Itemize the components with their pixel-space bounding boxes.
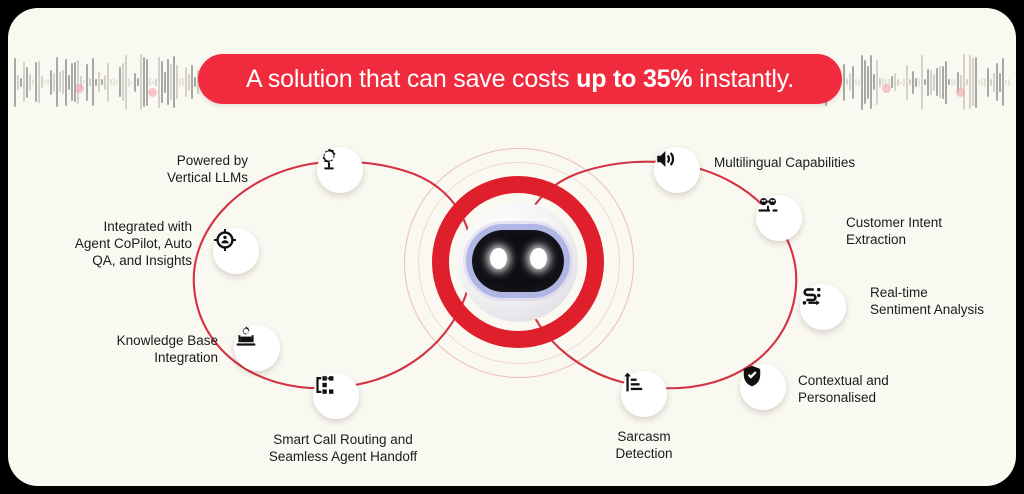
- waveform-bar: [933, 74, 935, 91]
- waveform-bar: [35, 62, 37, 102]
- waveform-bar: [53, 73, 55, 92]
- waveform-bar: [990, 79, 992, 86]
- waveform-bar: [981, 78, 983, 86]
- waveform-bar: [56, 57, 58, 107]
- waveform-bar: [50, 70, 52, 95]
- waveform-bar: [864, 60, 866, 104]
- waveform-bar: [969, 55, 971, 109]
- waveform-bar: [915, 78, 917, 87]
- waveform-bar: [101, 79, 103, 85]
- waveform-bar: [152, 81, 154, 84]
- node-multilingual-capabilities[interactable]: [654, 147, 700, 193]
- waveform-bar: [161, 61, 163, 103]
- waveform-bar: [47, 79, 49, 85]
- waveform-bar: [909, 79, 911, 85]
- node-sarcasm-detection[interactable]: [621, 371, 667, 417]
- label-multilingual-capabilities: Multilingual Capabilities: [714, 154, 964, 171]
- waveform-bar: [140, 54, 142, 110]
- waveform-bar: [98, 72, 100, 92]
- waveform-bar: [74, 62, 76, 102]
- waveform-bar: [191, 65, 193, 99]
- label-real-time-sentiment-analysis: Real-time Sentiment Analysis: [870, 284, 1016, 318]
- waveform-bar: [149, 78, 151, 86]
- node-contextual-and-personalised[interactable]: [740, 364, 786, 410]
- waveform-bar: [993, 73, 995, 92]
- waveform-bar: [843, 64, 845, 101]
- audio-waveform-right: [819, 54, 1010, 110]
- waveform-bar: [912, 71, 914, 94]
- waveform-bar: [873, 74, 875, 90]
- waveform-bar: [987, 68, 989, 97]
- waveform-bar: [65, 59, 67, 106]
- waveform-bar: [975, 57, 977, 108]
- waveform-bar: [41, 76, 43, 88]
- waveform-bar: [921, 55, 923, 110]
- waveform-bar: [188, 74, 190, 91]
- waveform-bar: [891, 76, 893, 88]
- waveform-bar: [167, 59, 169, 105]
- waveform-bar: [1008, 79, 1010, 86]
- waveform-bar: [116, 80, 118, 84]
- waveform-bar: [146, 59, 148, 106]
- waveform-bar: [122, 63, 124, 101]
- waveform-bar: [176, 65, 178, 99]
- waveform-bar: [182, 78, 184, 86]
- label-sarcasm-detection: Sarcasm Detection: [564, 428, 724, 462]
- waveform-bar: [158, 57, 160, 108]
- waveform-bar: [942, 66, 944, 99]
- node-agent-copilot-integration[interactable]: [213, 228, 259, 274]
- waveform-bar: [128, 78, 130, 87]
- waveform-bar: [131, 81, 133, 84]
- waveform-bar: [59, 72, 61, 92]
- node-powered-by-vertical-llms[interactable]: [317, 147, 363, 193]
- waveform-bar: [164, 72, 166, 93]
- waveform-bar: [849, 73, 851, 91]
- waveform-bar: [185, 67, 187, 97]
- node-knowledge-base-integration[interactable]: [234, 325, 280, 371]
- waveform-bar: [71, 63, 73, 101]
- waveform-bar: [930, 70, 932, 95]
- waveform-bar: [23, 62, 25, 102]
- waveform-bar: [900, 81, 902, 84]
- waveform-bar: [984, 78, 986, 87]
- waveform-bar: [903, 78, 905, 86]
- waveform-bar: [173, 56, 175, 108]
- node-smart-call-routing[interactable]: [313, 373, 359, 419]
- headline-pre: A solution that can save costs: [246, 65, 576, 93]
- waveform-bar: [26, 67, 28, 98]
- node-real-time-sentiment-analysis[interactable]: [800, 284, 846, 330]
- waveform-bar: [17, 75, 19, 90]
- waveform-bar: [68, 75, 70, 90]
- waveform-bar: [1002, 58, 1004, 106]
- infinity-diagram: Powered by Vertical LLMs Integrated with…: [8, 116, 1016, 486]
- label-knowledge-base-integration: Knowledge Base Integration: [58, 332, 218, 366]
- waveform-bar: [897, 79, 899, 86]
- waveform-bar: [996, 63, 998, 101]
- waveform-bar: [927, 69, 929, 96]
- waveform-bar: [876, 60, 878, 105]
- waveform-bar: [858, 79, 860, 86]
- waveform-bar: [918, 78, 920, 86]
- waveform-bar: [32, 79, 34, 85]
- avatar-visor: [472, 230, 564, 292]
- node-customer-intent-extraction[interactable]: [756, 195, 802, 241]
- waveform-accent-dot: [882, 84, 891, 93]
- waveform-bar: [855, 79, 857, 86]
- waveform-bar: [939, 66, 941, 98]
- waveform-bar: [107, 63, 109, 102]
- avatar-eye-left: [490, 248, 507, 269]
- waveform-bar: [867, 66, 869, 99]
- waveform-bar: [143, 57, 145, 107]
- waveform-bar: [194, 77, 196, 87]
- waveform-bar: [89, 78, 91, 86]
- waveform-bar: [20, 78, 22, 87]
- waveform-bar: [38, 61, 40, 103]
- waveform-bar: [846, 79, 848, 85]
- waveform-bar: [936, 68, 938, 96]
- waveform-bar: [861, 55, 863, 110]
- waveform-bar: [110, 79, 112, 85]
- waveform-bar: [86, 64, 88, 101]
- waveform-bar: [29, 74, 31, 91]
- waveform-bar: [170, 64, 172, 100]
- headline-highlight: up to 35%: [576, 65, 692, 93]
- waveform-accent-dot: [148, 88, 157, 97]
- waveform-accent-dot: [956, 88, 965, 97]
- waveform-bar: [894, 73, 896, 91]
- label-contextual-and-personalised: Contextual and Personalised: [798, 372, 978, 406]
- waveform-bar: [83, 80, 85, 84]
- waveform-bar: [1005, 80, 1007, 85]
- waveform-bar: [119, 67, 121, 97]
- headline-banner: A solution that can save costs up to 35%…: [198, 54, 842, 104]
- waveform-bar: [945, 61, 947, 104]
- waveform-bar: [104, 75, 106, 90]
- waveform-bar: [963, 54, 965, 110]
- waveform-bar: [951, 79, 953, 86]
- waveform-bar: [966, 79, 968, 85]
- waveform-bar: [948, 79, 950, 85]
- infographic-card: A solution that can save costs up to 35%…: [8, 8, 1016, 486]
- waveform-bar: [62, 70, 64, 94]
- waveform-bar: [852, 66, 854, 99]
- waveform-bar: [179, 78, 181, 86]
- waveform-bar: [137, 78, 139, 86]
- waveform-bar: [95, 79, 97, 86]
- waveform-bar: [44, 80, 46, 84]
- waveform-bar: [978, 80, 980, 84]
- waveform-bar: [134, 73, 136, 92]
- waveform-bar: [879, 78, 881, 87]
- avatar-eye-right: [530, 248, 547, 269]
- waveform-bar: [960, 75, 962, 89]
- headline-post: instantly.: [692, 65, 794, 93]
- waveform-bar: [125, 55, 127, 110]
- label-customer-intent-extraction: Customer Intent Extraction: [846, 214, 1016, 248]
- waveform-accent-dot: [75, 84, 84, 93]
- waveform-bar: [113, 78, 115, 86]
- waveform-bar: [954, 79, 956, 85]
- waveform-bar: [972, 58, 974, 106]
- label-agent-copilot-integration: Integrated with Agent CoPilot, Auto QA, …: [32, 218, 192, 269]
- audio-waveform-left: [14, 54, 199, 110]
- waveform-bar: [999, 73, 1001, 92]
- label-smart-call-routing: Smart Call Routing and Seamless Agent Ha…: [228, 431, 458, 465]
- ai-agent-avatar: [432, 176, 604, 348]
- waveform-bar: [155, 79, 157, 86]
- waveform-bar: [14, 58, 16, 107]
- headline-text: A solution that can save costs up to 35%…: [246, 65, 794, 94]
- waveform-bar: [77, 60, 79, 104]
- waveform-bar: [92, 58, 94, 106]
- infographic-stage: A solution that can save costs up to 35%…: [0, 0, 1024, 494]
- waveform-bar: [870, 55, 872, 109]
- waveform-bar: [906, 65, 908, 100]
- waveform-bar: [924, 79, 926, 85]
- label-powered-by-vertical-llms: Powered by Vertical LLMs: [68, 152, 248, 186]
